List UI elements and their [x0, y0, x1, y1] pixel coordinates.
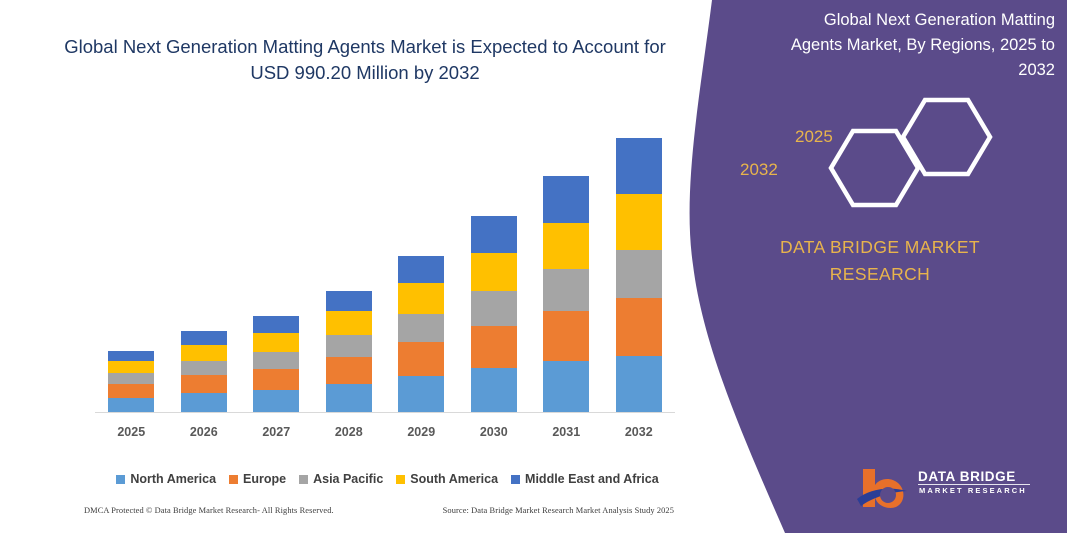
- x-axis-tick-labels: 20252026202720282029203020312032: [95, 423, 675, 445]
- legend-item-middle-east-and-africa[interactable]: Middle East and Africa: [511, 472, 659, 486]
- bar-segment-asia-pacific[interactable]: [326, 335, 372, 357]
- bar-segment-south-america[interactable]: [616, 194, 662, 250]
- legend-item-south-america[interactable]: South America: [396, 472, 498, 486]
- x-axis-label-2028: 2028: [313, 425, 385, 439]
- bar-segment-middle-east-and-africa[interactable]: [181, 331, 227, 345]
- bar-segment-europe[interactable]: [253, 369, 299, 390]
- bar-stack-2026[interactable]: [181, 331, 227, 413]
- bar-segment-middle-east-and-africa[interactable]: [253, 316, 299, 333]
- footer-source: Source: Data Bridge Market Research Mark…: [443, 506, 674, 515]
- bar-segment-europe[interactable]: [398, 342, 444, 376]
- bar-segment-europe[interactable]: [616, 298, 662, 356]
- footer-note: DMCA Protected © Data Bridge Market Rese…: [84, 506, 674, 515]
- legend-label: Middle East and Africa: [525, 472, 659, 486]
- bar-segment-north-america[interactable]: [471, 368, 517, 413]
- bar-stack-2029[interactable]: [398, 256, 444, 413]
- bar-segment-south-america[interactable]: [543, 223, 589, 269]
- bar-stack-2031[interactable]: [543, 176, 589, 413]
- bar-segment-europe[interactable]: [326, 357, 372, 384]
- bar-segment-north-america[interactable]: [108, 398, 154, 413]
- footer-copyright: DMCA Protected © Data Bridge Market Rese…: [84, 506, 334, 515]
- bar-segment-asia-pacific[interactable]: [543, 269, 589, 311]
- x-axis-label-2025: 2025: [95, 425, 167, 439]
- bar-segment-south-america[interactable]: [253, 333, 299, 352]
- infographic-canvas: Global Next Generation Matting Agents Ma…: [0, 0, 1067, 533]
- legend-swatch-icon: [396, 475, 405, 484]
- bar-segment-south-america[interactable]: [398, 283, 444, 314]
- bar-stack-2025[interactable]: [108, 351, 154, 413]
- bar-segment-asia-pacific[interactable]: [616, 250, 662, 298]
- legend-item-europe[interactable]: Europe: [229, 472, 286, 486]
- bar-segment-asia-pacific[interactable]: [253, 352, 299, 369]
- bar-segment-north-america[interactable]: [181, 393, 227, 413]
- legend-swatch-icon: [229, 475, 238, 484]
- hexagon-2032-label: 2032: [740, 160, 778, 180]
- legend-label: North America: [130, 472, 216, 486]
- bar-segment-asia-pacific[interactable]: [108, 373, 154, 384]
- legend-item-north-america[interactable]: North America: [116, 472, 216, 486]
- x-axis-label-2026: 2026: [168, 425, 240, 439]
- legend-label: South America: [410, 472, 498, 486]
- bar-segment-north-america[interactable]: [543, 361, 589, 413]
- bar-segment-south-america[interactable]: [181, 345, 227, 361]
- logo-divider: [918, 484, 1030, 485]
- bar-stack-2032[interactable]: [616, 138, 662, 413]
- hexagon-2032-shape: [831, 131, 918, 205]
- legend-label: Asia Pacific: [313, 472, 383, 486]
- bar-segment-asia-pacific[interactable]: [471, 291, 517, 326]
- x-axis-label-2029: 2029: [385, 425, 457, 439]
- bar-segment-north-america[interactable]: [398, 376, 444, 413]
- legend-swatch-icon: [299, 475, 308, 484]
- bar-segment-north-america[interactable]: [253, 390, 299, 413]
- bar-segment-north-america[interactable]: [616, 356, 662, 413]
- bar-segment-middle-east-and-africa[interactable]: [616, 138, 662, 194]
- page-title: Global Next Generation Matting Agents Ma…: [60, 34, 670, 86]
- bar-segment-middle-east-and-africa[interactable]: [398, 256, 444, 283]
- bar-segment-middle-east-and-africa[interactable]: [326, 291, 372, 311]
- bar-segment-south-america[interactable]: [108, 361, 154, 373]
- bar-segment-south-america[interactable]: [471, 253, 517, 291]
- bar-stack-2030[interactable]: [471, 216, 517, 413]
- bar-segment-europe[interactable]: [108, 384, 154, 398]
- bar-segment-europe[interactable]: [181, 375, 227, 393]
- bar-segment-middle-east-and-africa[interactable]: [108, 351, 154, 361]
- x-axis-label-2032: 2032: [603, 425, 675, 439]
- chart-panel: Global Next Generation Matting Agents Ma…: [0, 0, 720, 533]
- x-axis-label-2031: 2031: [530, 425, 602, 439]
- bar-segment-middle-east-and-africa[interactable]: [543, 176, 589, 223]
- brand-panel: Global Next Generation Matting Agents Ma…: [670, 0, 1067, 533]
- x-axis-line: [95, 412, 675, 413]
- x-axis-label-2030: 2030: [458, 425, 530, 439]
- bar-segment-north-america[interactable]: [326, 384, 372, 413]
- hexagon-badges: [805, 95, 1015, 210]
- logo-text-main: DATA BRIDGE: [918, 469, 1016, 484]
- hexagon-outline-icon: [805, 95, 1015, 210]
- brand-name: DATA BRIDGE MARKET RESEARCH: [750, 234, 1010, 288]
- logo-text-sub: MARKET RESEARCH: [919, 486, 1027, 495]
- bar-segment-europe[interactable]: [543, 311, 589, 361]
- panel-heading: Global Next Generation Matting Agents Ma…: [770, 8, 1055, 83]
- bar-stack-2028[interactable]: [326, 291, 372, 413]
- legend-swatch-icon: [511, 475, 520, 484]
- bar-segment-asia-pacific[interactable]: [398, 314, 444, 342]
- legend-swatch-icon: [116, 475, 125, 484]
- legend-item-asia-pacific[interactable]: Asia Pacific: [299, 472, 383, 486]
- bar-stack-2027[interactable]: [253, 316, 299, 413]
- hexagon-2025-label: 2025: [795, 127, 833, 147]
- bar-segment-south-america[interactable]: [326, 311, 372, 335]
- legend-label: Europe: [243, 472, 286, 486]
- data-bridge-logo: DATA BRIDGE MARKET RESEARCH: [855, 465, 1035, 509]
- x-axis-label-2027: 2027: [240, 425, 312, 439]
- bar-segment-middle-east-and-africa[interactable]: [471, 216, 517, 253]
- chart-legend: North AmericaEuropeAsia PacificSouth Ame…: [95, 472, 680, 486]
- bar-segment-europe[interactable]: [471, 326, 517, 368]
- chart-plot-area: [95, 100, 675, 413]
- bar-segment-asia-pacific[interactable]: [181, 361, 227, 375]
- logo-mark-icon: [855, 465, 915, 509]
